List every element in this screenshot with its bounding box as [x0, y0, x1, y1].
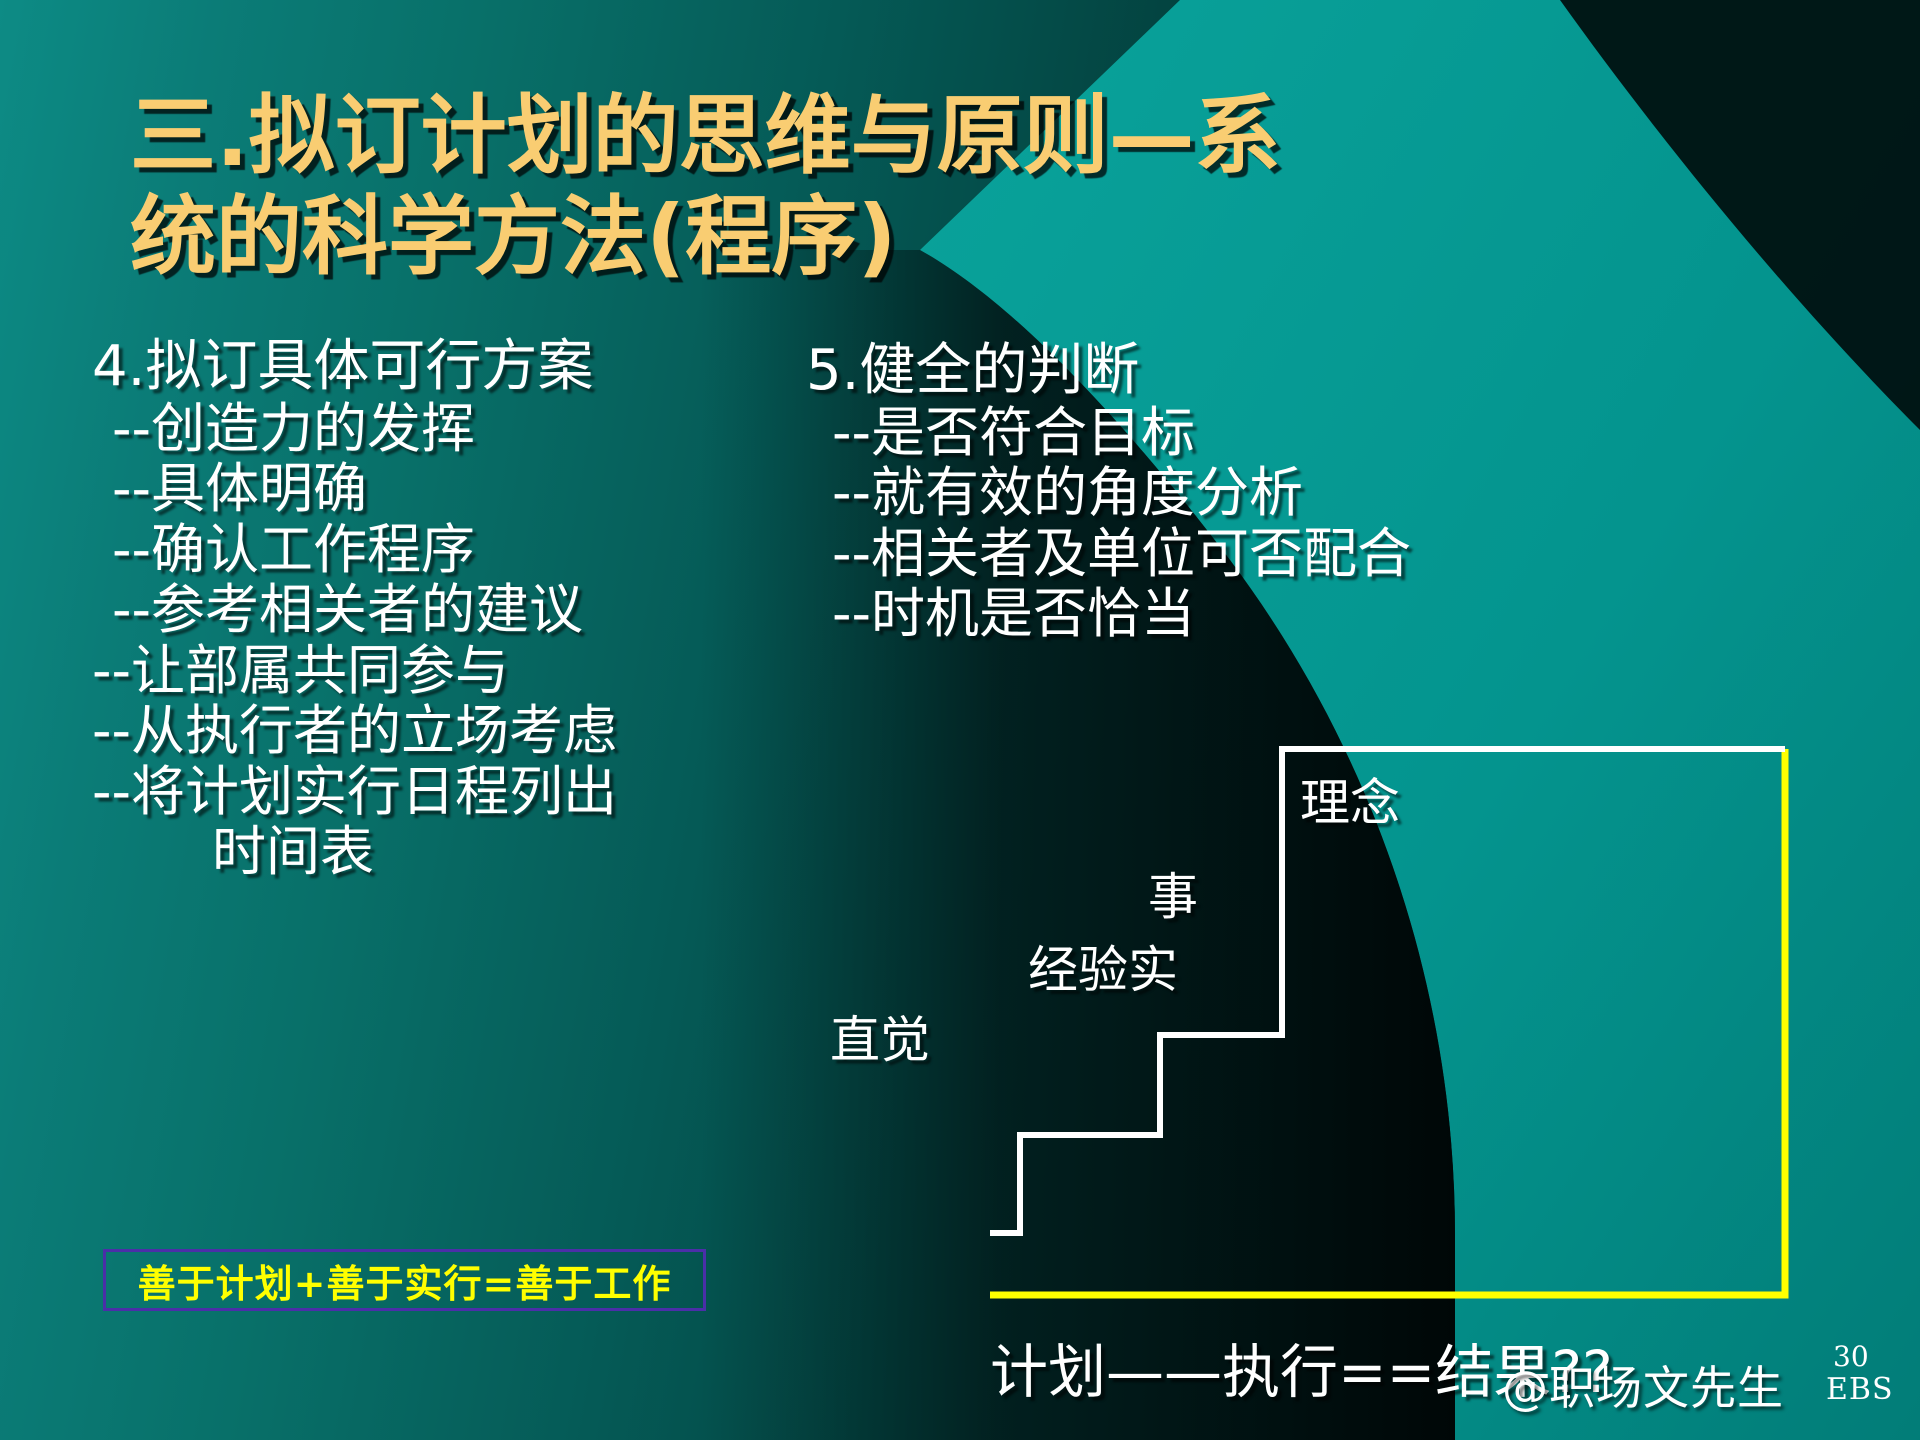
left-column-item-3: --确认工作程序	[92, 520, 792, 580]
staircase-step-label-3: 事	[1148, 857, 1198, 929]
left-column-heading: 4.拟订具体可行方案	[92, 336, 792, 399]
right-column-item-4: --时机是否恰当	[806, 584, 1596, 644]
staircase-step-label-2: 经验实	[1028, 930, 1178, 1002]
right-column-item-3: --相关者及单位可否配合	[806, 524, 1596, 584]
left-column-item-5: --让部属共同参与	[92, 641, 792, 701]
right-content-column: 5.健全的判断 --是否符合目标 --就有效的角度分析 --相关者及单位可否配合…	[806, 340, 1596, 645]
watermark-label: @职场文先生	[1502, 1352, 1784, 1418]
right-column-item-1: --是否符合目标	[806, 403, 1596, 463]
slide-title: 三.拟订计划的思维与原则—系 统的科学方法(程序)	[130, 86, 1530, 289]
formula-text: 善于计划+善于实行=善于工作	[138, 1253, 672, 1308]
left-column-item-7: --将计划实行日程列出	[92, 762, 792, 822]
left-column-item-4: --参考相关者的建议	[92, 580, 792, 640]
brand-mark: EBS	[1826, 1372, 1894, 1407]
left-column-item-8: 时间表	[92, 822, 792, 882]
staircase-step-label-1: 直觉	[830, 1000, 930, 1072]
formula-callout-box: 善于计划+善于实行=善于工作	[103, 1249, 706, 1311]
staircase-step-label-4: 理念	[1300, 763, 1400, 835]
right-column-item-2: --就有效的角度分析	[806, 463, 1596, 523]
left-column-item-6: --从执行者的立场考虑	[92, 701, 792, 761]
slide-title-line-2: 统的科学方法(程序)	[130, 187, 1530, 288]
presentation-slide: 三.拟订计划的思维与原则—系 统的科学方法(程序) 4.拟订具体可行方案 --创…	[0, 0, 1920, 1440]
right-column-heading: 5.健全的判断	[806, 340, 1596, 403]
staircase-diagram: 理念 事 经验实 直觉	[990, 735, 1800, 1315]
page-number: 30	[1833, 1340, 1869, 1373]
left-column-item-2: --具体明确	[92, 459, 792, 519]
left-column-item-1: --创造力的发挥	[92, 399, 792, 459]
slide-title-line-1: 三.拟订计划的思维与原则—系	[130, 86, 1530, 187]
left-content-column: 4.拟订具体可行方案 --创造力的发挥 --具体明确 --确认工作程序 --参考…	[92, 336, 792, 882]
